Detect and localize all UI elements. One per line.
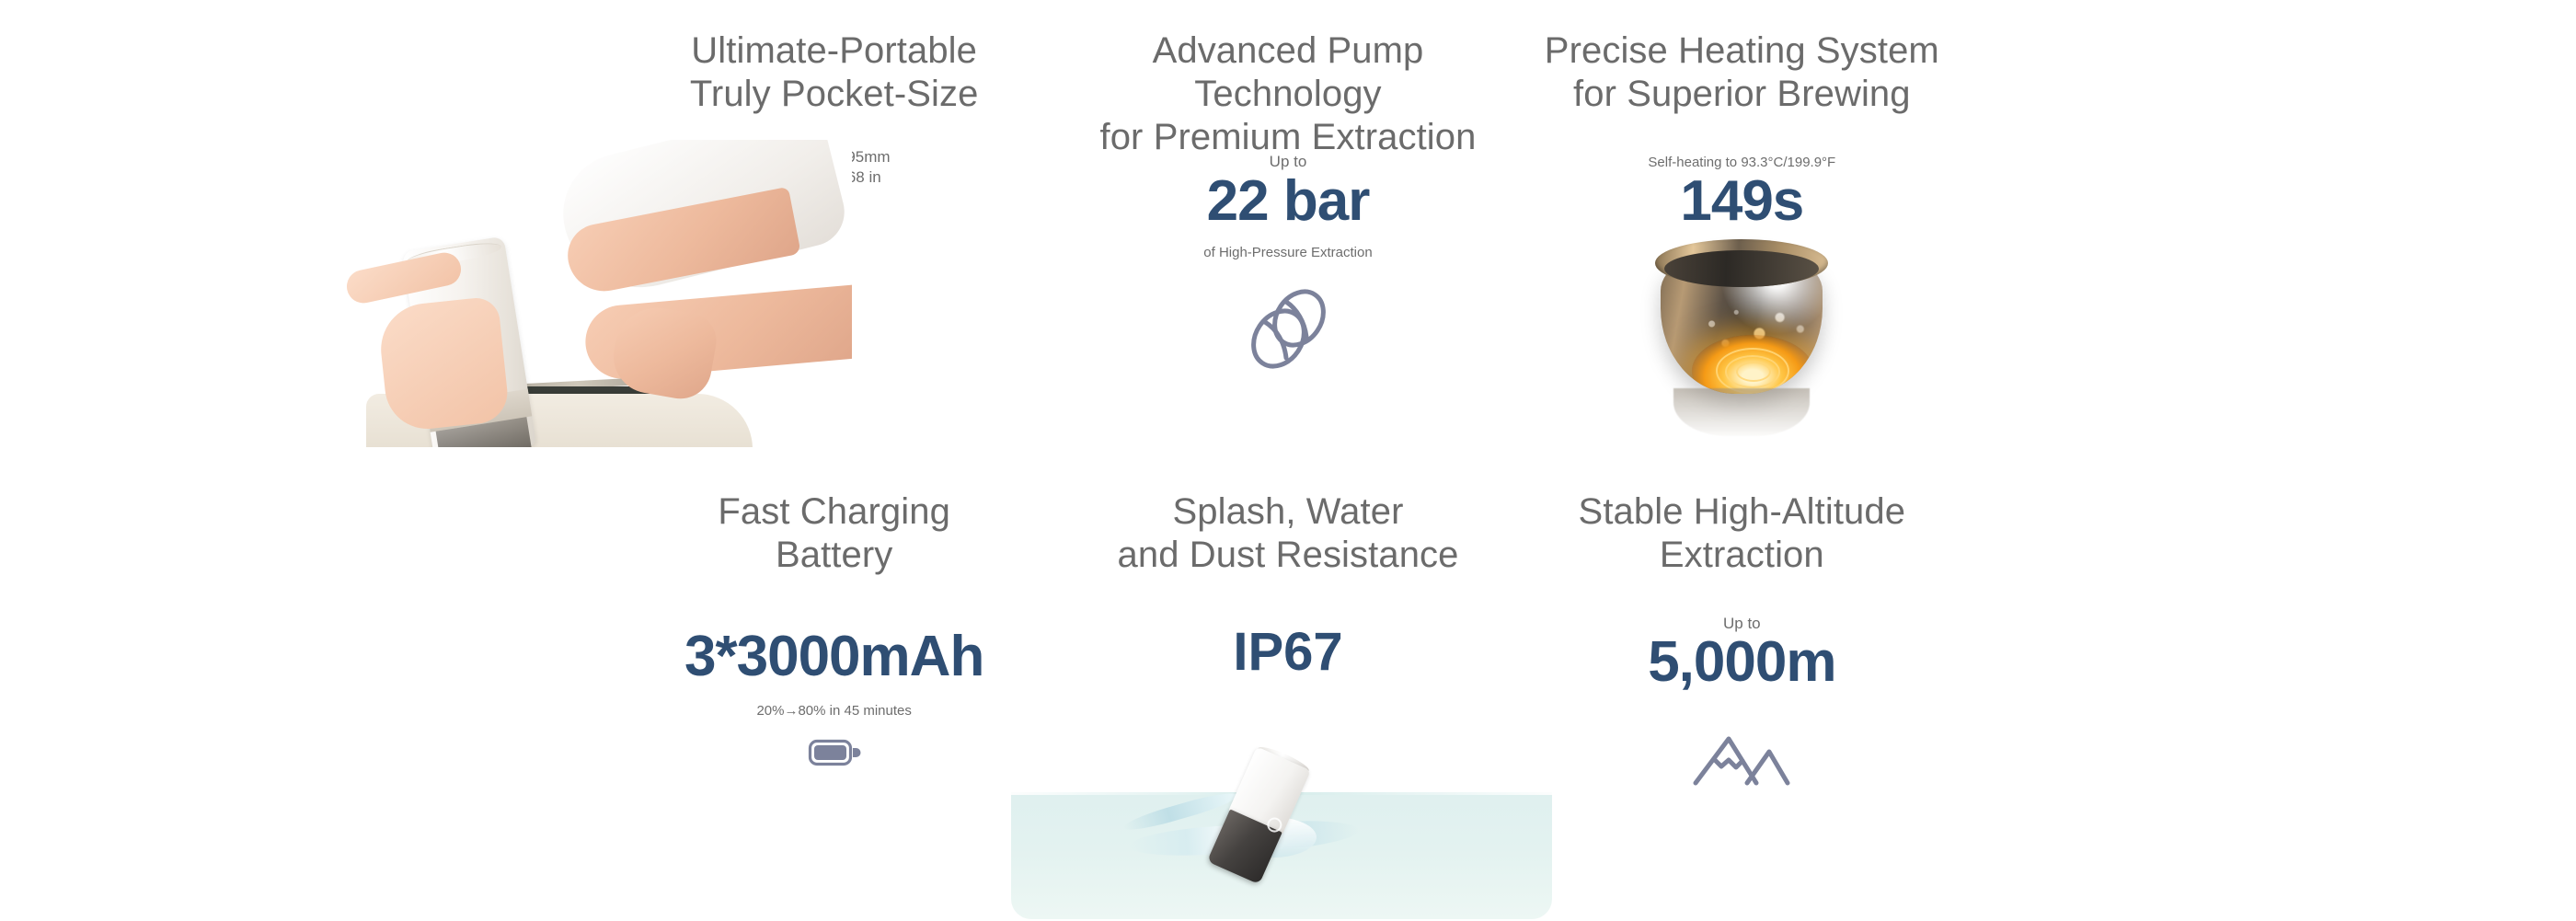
feature-showcase: Ultimate-Portable Truly Pocket-Size 67mm… [0, 0, 2576, 921]
feature-heading: Precise Heating System for Superior Brew… [1515, 29, 1969, 116]
feature-stat-value: 3*3000mAh [607, 627, 1061, 686]
feature-heading: Ultimate-Portable Truly Pocket-Size [607, 29, 1061, 116]
photo-device-in-bag [339, 140, 852, 447]
feature-card-battery: Fast Charging Battery 3*3000mAh 20%→80% … [607, 461, 1061, 921]
feature-heading: Stable High-Altitude Extraction [1515, 490, 1969, 577]
feature-stat-value: 22 bar [1061, 171, 1514, 231]
feature-heading: Splash, Water and Dust Resistance [1061, 490, 1514, 577]
feature-card-pump: Advanced Pump Technology for Premium Ext… [1061, 0, 1514, 461]
feature-stat-value: 149s [1515, 171, 1969, 231]
battery-icon [808, 737, 861, 768]
left-hand-shape [376, 295, 510, 432]
feature-heading: Advanced Pump Technology for Premium Ext… [1061, 29, 1514, 160]
feature-card-portability: Ultimate-Portable Truly Pocket-Size 67mm… [607, 0, 1061, 461]
feature-grid: Ultimate-Portable Truly Pocket-Size 67mm… [607, 0, 1969, 921]
feature-suffix-label: 20%→80% in 45 minutes [607, 702, 1061, 720]
feature-card-altitude: Stable High-Altitude Extraction Up to 5,… [1515, 461, 1969, 921]
photo-water-splash [1011, 740, 1552, 919]
coffee-bean-icon [1240, 282, 1336, 374]
feature-card-waterproof: Splash, Water and Dust Resistance IP67 [1061, 461, 1514, 921]
heater-inner-rim [1664, 250, 1819, 287]
photo-heating-element [1650, 237, 1834, 447]
feature-stat-value: 5,000m [1515, 632, 1969, 692]
feature-suffix-label: of High-Pressure Extraction [1061, 244, 1514, 262]
feature-heading: Fast Charging Battery [607, 490, 1061, 577]
heater-base-reflection [1673, 388, 1810, 436]
feature-card-heating: Precise Heating System for Superior Brew… [1515, 0, 1969, 461]
mountain-icon [1690, 730, 1793, 787]
feature-stat-value: IP67 [1061, 625, 1514, 681]
coil-ring [1736, 362, 1771, 382]
